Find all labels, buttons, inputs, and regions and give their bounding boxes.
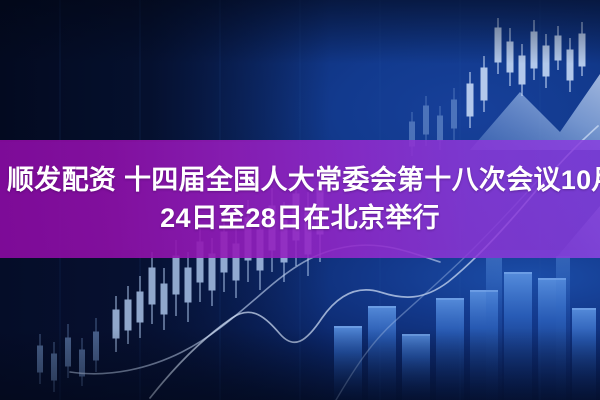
headline-line-2: 24日至28日在北京举行 [160,201,440,235]
volume-bar-chart [334,256,596,400]
headline-banner: 顺发配资 十四届全国人大常委会第十八次会议10月 24日至28日在北京举行 [0,140,600,258]
candlestick-series-left-faint [38,318,99,392]
banner-image: 顺发配资 十四届全国人大常委会第十八次会议10月 24日至28日在北京举行 [0,0,600,400]
headline-line-1: 顺发配资 十四届全国人大常委会第十八次会议10月 [0,163,600,197]
